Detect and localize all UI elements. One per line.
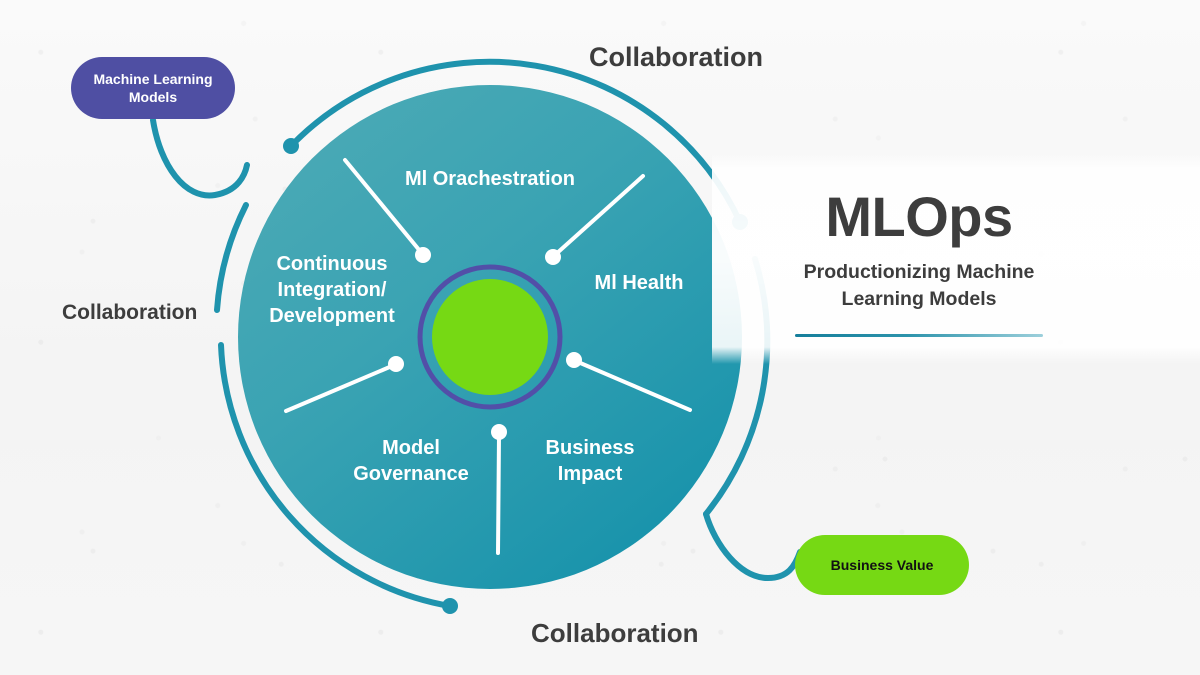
connector-ml-models (153, 120, 247, 195)
spoke-dot-ci-cd-top (415, 247, 431, 263)
badge-machine-learning-models[interactable]: Machine Learning Models (71, 57, 235, 119)
hub-core (432, 279, 548, 395)
arc-dot-bottom-left (442, 598, 458, 614)
title-underline (795, 334, 1043, 337)
badge-business-value[interactable]: Business Value (795, 535, 969, 595)
page-subtitle: Productionizing Machine Learning Models (790, 259, 1048, 314)
title-block: MLOps Productionizing Machine Learning M… (790, 188, 1048, 337)
spoke-dot-business-impact (566, 352, 582, 368)
wheel-label-model-governance: Model Governance (330, 436, 492, 488)
wheel-label-ml-health: Ml Health (568, 271, 710, 297)
spoke-dot-model-governance (491, 424, 507, 440)
collaboration-arc-left (217, 205, 246, 310)
spoke-dot-ci-cd-bottom (388, 356, 404, 372)
connector-business-value (706, 514, 800, 578)
infographic-canvas: MLOps Productionizing Machine Learning M… (0, 0, 1200, 675)
wheel-label-continuous-integration-development: Continuous Integration/ Development (252, 252, 412, 329)
collaboration-label-top: Collaboration (589, 42, 763, 73)
arc-dot-top-left (283, 138, 299, 154)
collaboration-label-bottom: Collaboration (531, 618, 699, 649)
page-title: MLOps (790, 188, 1048, 247)
collaboration-label-left: Collaboration (62, 301, 197, 325)
spoke-dot-ml-health-top (545, 249, 561, 265)
wheel-label-business-impact: Business Impact (512, 436, 668, 488)
wheel-label-ml-orchestration: Ml Orachestration (390, 167, 590, 193)
spoke-model-governance (498, 436, 499, 553)
